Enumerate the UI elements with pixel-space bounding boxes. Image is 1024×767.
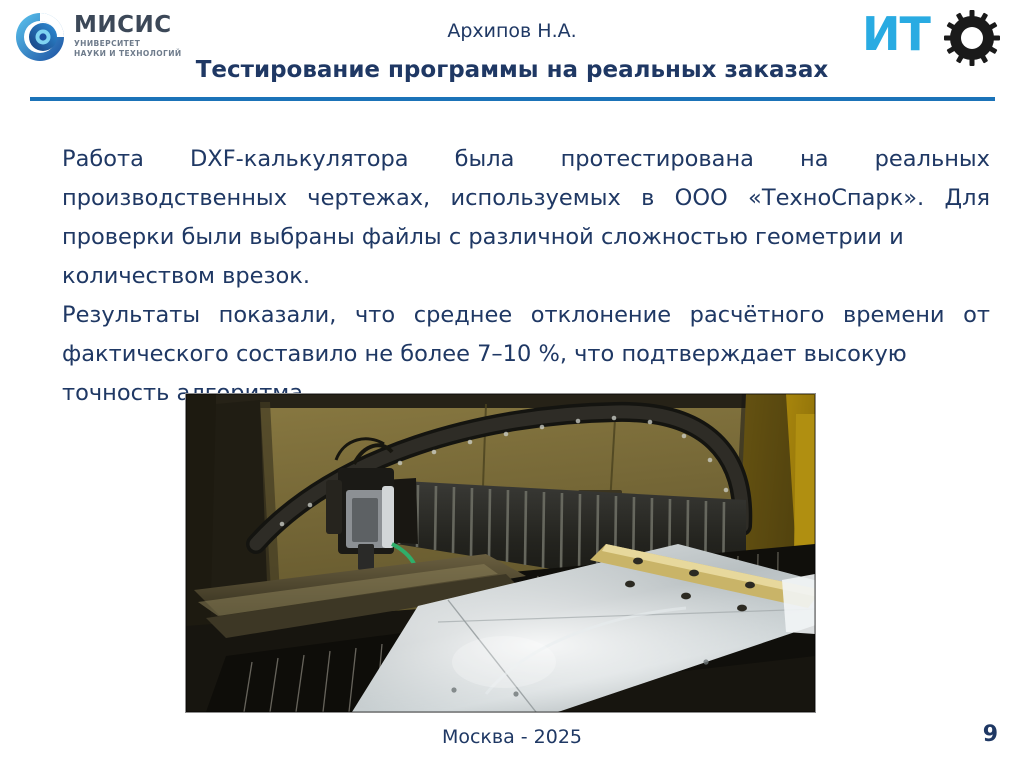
paragraph-2-justified: Результаты показали, что среднее отклоне… [62,302,990,367]
paragraph-2: Результаты показали, что среднее отклоне… [62,296,990,374]
page-number: 9 [983,722,998,747]
body-text-block: Работа DXF-калькулятора была протестиров… [62,140,990,413]
slide-header: МИСИС УНИВЕРСИТЕТ НАУКИ И ТЕХНОЛОГИЙ Арх… [0,0,1024,104]
footer-place-year: Москва - 2025 [0,726,1024,748]
ito-logo: ИТ [862,6,1002,68]
ito-letters: ИТ [862,8,930,60]
paragraph-1: Работа DXF-калькулятора была протестиров… [62,140,990,257]
title-divider [30,97,995,101]
paragraph-1-justified: Работа DXF-калькулятора была протестиров… [62,146,990,250]
laser-cutting-machine-photo [186,394,815,712]
paragraph-1-last-line: количеством врезок. [62,257,990,296]
photo-illustration [186,394,815,712]
gear-icon [944,10,1000,66]
